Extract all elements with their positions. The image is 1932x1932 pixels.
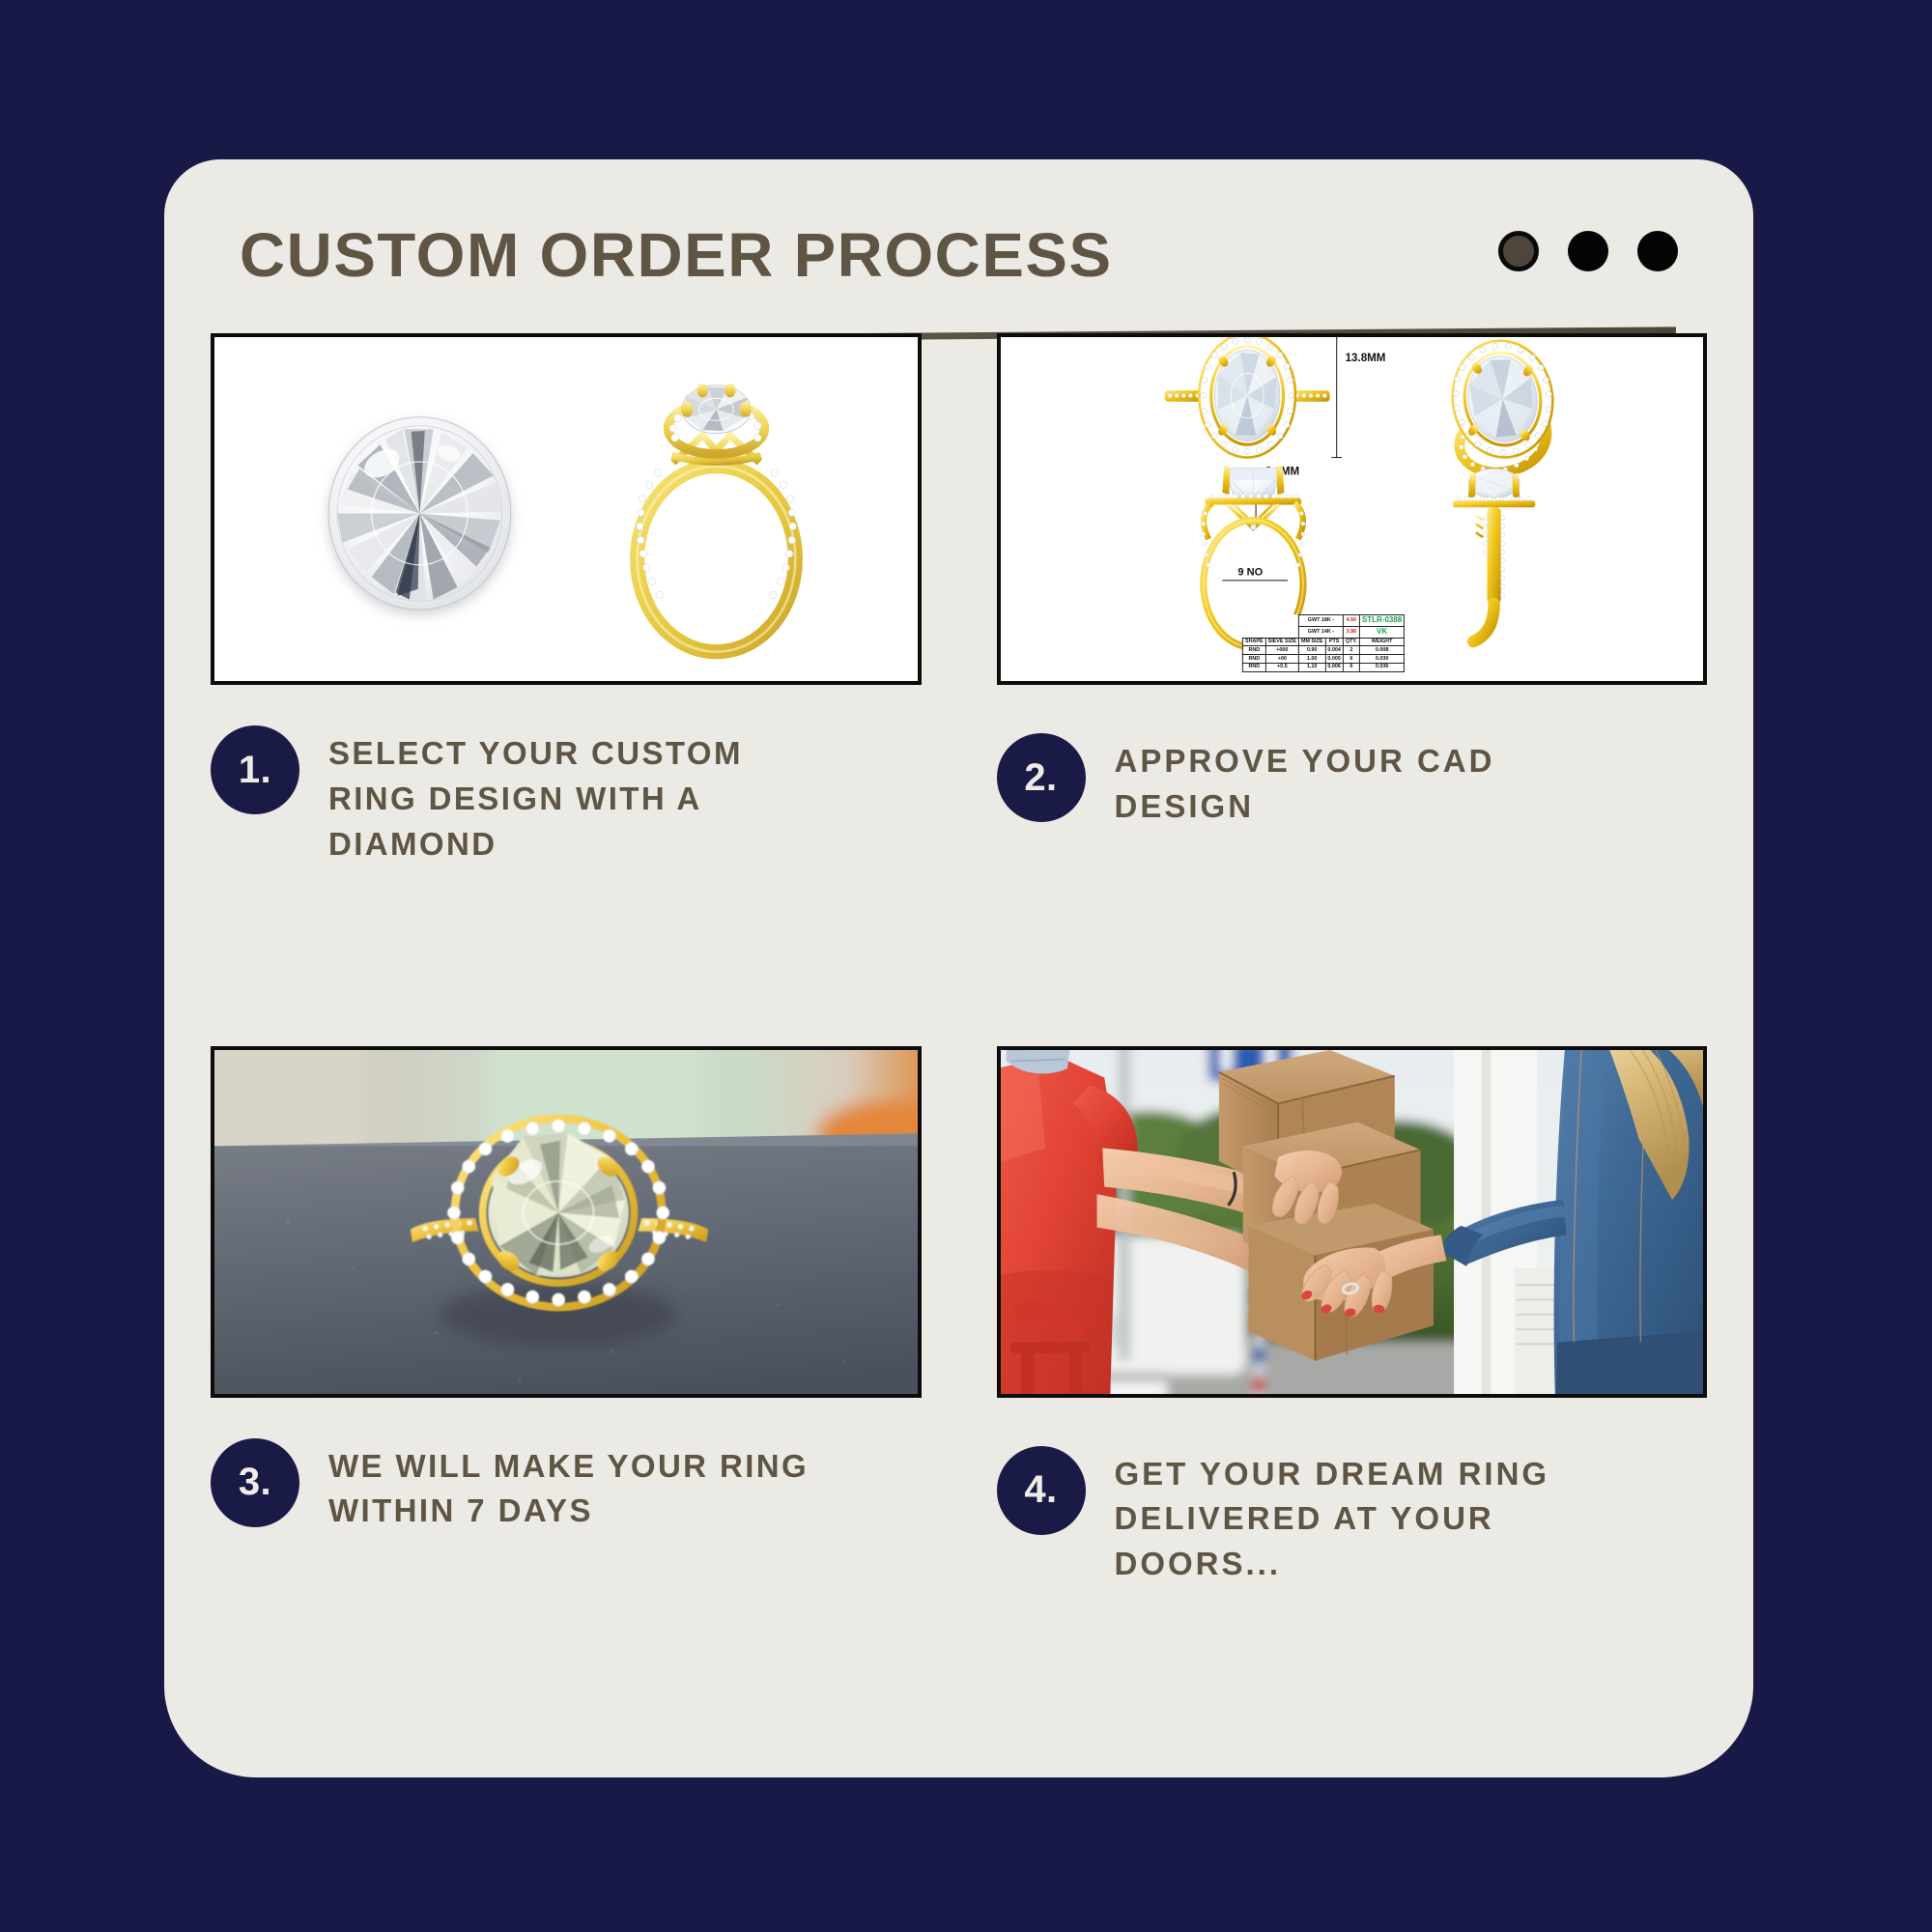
step-3-caption-row: 3. WE WILL MAKE YOUR RING WITHIN 7 DAYS [211, 1433, 922, 1535]
window-dot-black-1-icon[interactable] [1568, 231, 1608, 271]
step-4-caption: GET YOUR DREAM RING DELIVERED AT YOUR DO… [1115, 1433, 1598, 1588]
cad-cell-mm: 1.00 [1298, 655, 1324, 664]
finished-ring-photo-illustration [214, 1050, 918, 1394]
process-step-3: 3. WE WILL MAKE YOUR RING WITHIN 7 DAYS [211, 1046, 922, 1749]
step-4-number-badge: 4. [997, 1446, 1086, 1535]
page-root: CUSTOM ORDER PROCESS [0, 0, 1932, 1932]
cad-cell-sieve: +0.5 [1265, 663, 1298, 671]
cad-col-sieve-size: SIEVE SIZE [1265, 638, 1298, 646]
cad-gwt14k-label: GWT 14K - [1298, 626, 1343, 638]
step-2-image-frame: 13.8MM [997, 333, 1708, 685]
cad-col-weight: WEIGHT [1359, 638, 1404, 646]
cad-cell-weight: 0.008 [1359, 646, 1404, 655]
process-step-4: 4. GET YOUR DREAM RING DELIVERED AT YOUR… [997, 1046, 1708, 1749]
cad-cell-shape: RND [1243, 655, 1266, 664]
process-step-2: 13.8MM [997, 333, 1708, 1037]
cad-spec-table: GWT 18K - 4.50 STLR-0388 GWT 14K - 3.96 … [1242, 614, 1405, 672]
cad-cell-pts: 0.005 [1325, 655, 1344, 664]
window-dot-brown-icon[interactable] [1498, 231, 1539, 271]
step-4-caption-row: 4. GET YOUR DREAM RING DELIVERED AT YOUR… [997, 1433, 1708, 1588]
cad-gwt14k-value: 3.96 [1343, 626, 1359, 638]
step-2-caption: APPROVE YOUR CAD DESIGN [1115, 720, 1598, 830]
page-title: CUSTOM ORDER PROCESS [240, 219, 1113, 291]
cad-cell-shape: RND [1243, 663, 1266, 671]
step-4-image-frame [997, 1046, 1708, 1398]
cad-style-code: STLR-0388 [1359, 614, 1404, 626]
steps-grid: 1. SELECT YOUR CUSTOM RING DESIGN WITH A… [211, 333, 1707, 1748]
cad-spec-header-row-1: GWT 18K - 4.50 STLR-0388 [1243, 614, 1405, 626]
step-1-caption-row: 1. SELECT YOUR CUSTOM RING DESIGN WITH A… [211, 720, 922, 867]
step-3-image-frame [211, 1046, 922, 1398]
cad-ring-size-label: 9 NO [1237, 567, 1263, 579]
step-1-number-badge: 1. [211, 725, 299, 814]
loose-diamond-and-gold-halo-ring-illustration [214, 337, 918, 681]
cad-cell-pts: 0.004 [1325, 646, 1344, 655]
cad-cell-weight: 0.036 [1359, 663, 1404, 671]
cad-spec-column-headers: SHAPE SIEVE SIZE MM SIZE PTS QTY. WEIGHT [1243, 638, 1405, 646]
window-dots [1498, 231, 1678, 271]
process-step-1: 1. SELECT YOUR CUSTOM RING DESIGN WITH A… [211, 333, 922, 1037]
step-1-caption: SELECT YOUR CUSTOM RING DESIGN WITH A DI… [328, 720, 811, 867]
cad-col-qty: QTY. [1343, 638, 1359, 646]
cad-cell-mm: 1.10 [1298, 663, 1324, 671]
cad-initials: VK [1359, 626, 1404, 638]
cad-cell-shape: RND [1243, 646, 1266, 655]
cad-col-mm-size: MM SIZE [1298, 638, 1324, 646]
cad-cell-sieve: +000 [1265, 646, 1298, 655]
cad-cell-sieve: +00 [1265, 655, 1298, 664]
cad-design-sheet-illustration: 13.8MM [1001, 337, 1704, 681]
card-header: CUSTOM ORDER PROCESS [240, 210, 1678, 335]
cad-gwt18k-label: GWT 18K - [1298, 614, 1343, 626]
cad-col-shape: SHAPE [1243, 638, 1266, 646]
cad-cell-qty: 2 [1343, 646, 1359, 655]
process-card: CUSTOM ORDER PROCESS [164, 159, 1753, 1777]
cad-cell-qty: 6 [1343, 655, 1359, 664]
step-3-caption: WE WILL MAKE YOUR RING WITHIN 7 DAYS [328, 1433, 811, 1535]
package-delivery-photo-illustration [1001, 1050, 1704, 1394]
cad-cell-weight: 0.030 [1359, 655, 1404, 664]
step-1-image-frame [211, 333, 922, 685]
window-dot-black-2-icon[interactable] [1637, 231, 1678, 271]
cad-spec-row: RND +000 0.90 0.004 2 0.008 [1243, 646, 1405, 655]
cad-spec-row: RND +0.5 1.10 0.006 6 0.036 [1243, 663, 1405, 671]
cad-col-pts: PTS [1325, 638, 1344, 646]
cad-spec-header-row-2: GWT 14K - 3.96 VK [1243, 626, 1405, 638]
cad-cell-mm: 0.90 [1298, 646, 1324, 655]
cad-cell-qty: 6 [1343, 663, 1359, 671]
cad-spec-row: RND +00 1.00 0.005 6 0.030 [1243, 655, 1405, 664]
cad-cell-pts: 0.006 [1325, 663, 1344, 671]
step-2-number-badge: 2. [997, 733, 1086, 822]
step-3-number-badge: 3. [211, 1438, 299, 1527]
cad-dim-top-label: 13.8MM [1345, 353, 1385, 364]
step-2-caption-row: 2. APPROVE YOUR CAD DESIGN [997, 720, 1708, 830]
cad-gwt18k-value: 4.50 [1343, 614, 1359, 626]
